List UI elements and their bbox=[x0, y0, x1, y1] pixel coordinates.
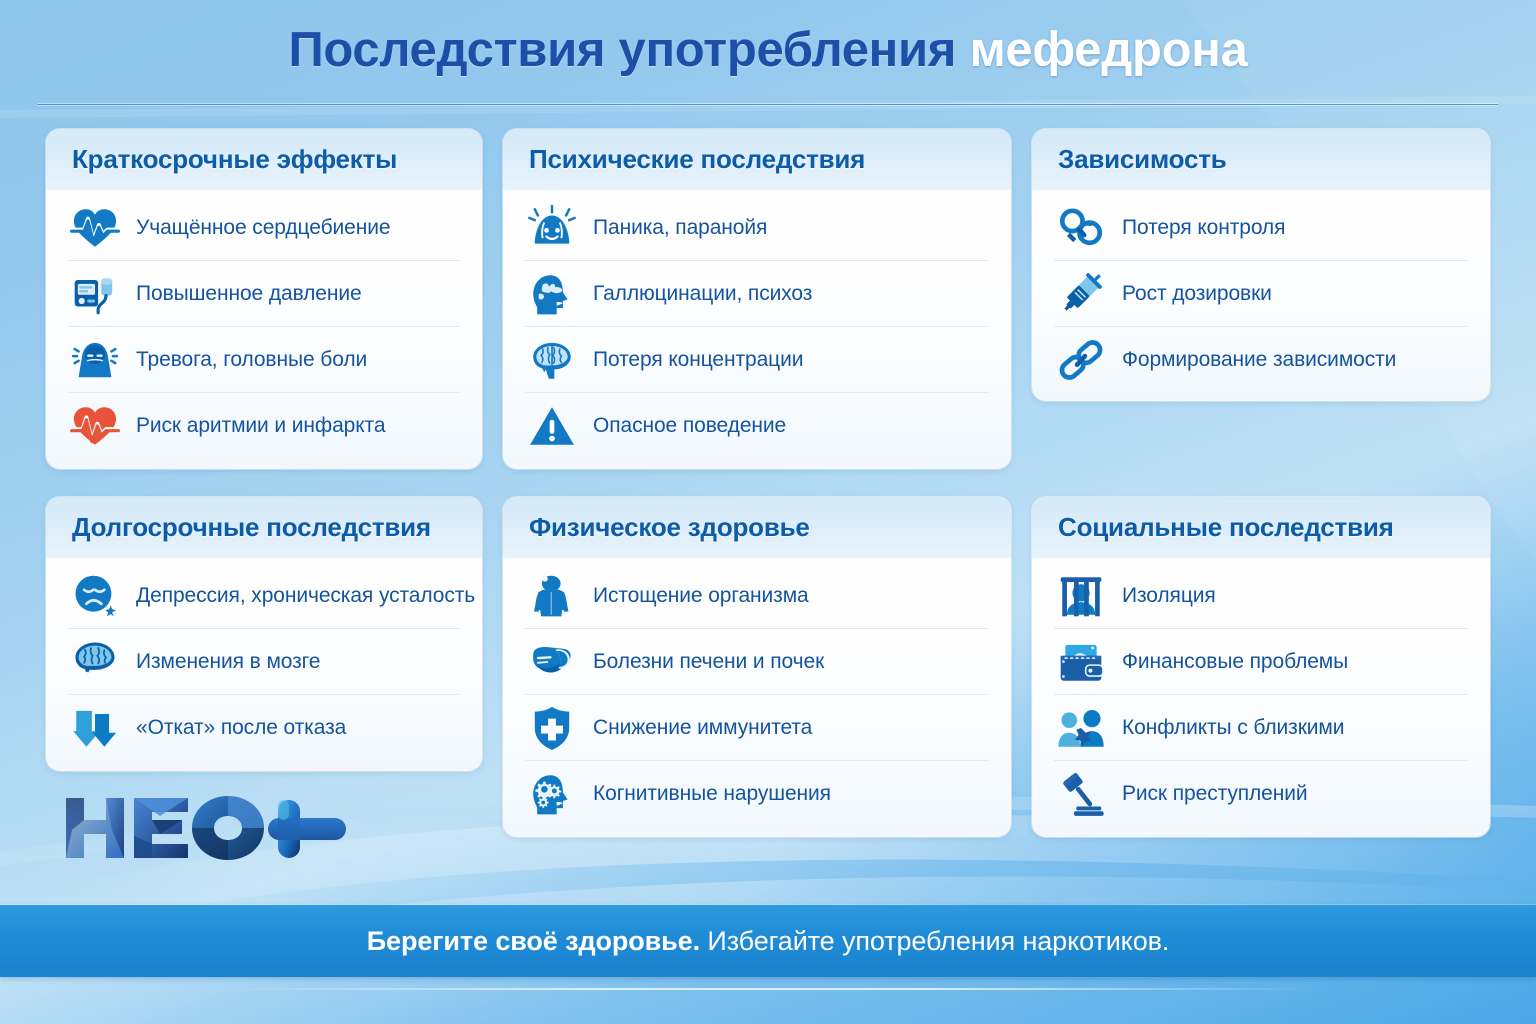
list-item-label: Тревога, головные боли bbox=[136, 348, 367, 372]
list-item[interactable]: Изменения в мозге bbox=[68, 629, 460, 695]
list-item-label: «Откат» после отказа bbox=[136, 716, 346, 740]
gears-head-icon bbox=[525, 767, 579, 821]
title-main-text: Последствия употребления bbox=[288, 23, 956, 77]
list-item-label: Учащённое сердцебиение bbox=[136, 216, 390, 240]
card-header: Психические последствия bbox=[503, 129, 1011, 191]
list-item[interactable]: Рост дозировки bbox=[1054, 261, 1468, 327]
sad-face-icon bbox=[68, 569, 122, 623]
list-item[interactable]: Болезни печени и почек bbox=[525, 629, 989, 695]
gavel-icon bbox=[1054, 767, 1108, 821]
footer-banner: Берегите своё здоровье. Избегайте употре… bbox=[0, 905, 1536, 977]
heartbeat-icon bbox=[68, 201, 122, 255]
prison-bars-icon bbox=[1054, 569, 1108, 623]
list-item-label: Опасное поведение bbox=[593, 414, 786, 438]
card-title: Социальные последствия bbox=[1058, 512, 1394, 543]
title-divider bbox=[38, 103, 1498, 106]
list-item-label: Повышенное давление bbox=[136, 282, 362, 306]
brain-change-icon bbox=[68, 635, 122, 689]
brain-icon bbox=[525, 333, 579, 387]
list-item[interactable]: Снижение иммунитета bbox=[525, 695, 989, 761]
list-item-label: Снижение иммунитета bbox=[593, 716, 812, 740]
infographic-poster: Последствия употребления мефедрона Кратк… bbox=[0, 0, 1536, 1024]
list-item[interactable]: Когнитивные нарушения bbox=[525, 761, 989, 827]
liver-kidney-icon bbox=[525, 635, 579, 689]
heart-arrhythmia-icon bbox=[68, 399, 122, 453]
card-body: Истощение организма Болезни печени и поч… bbox=[503, 559, 1011, 835]
anxious-head-icon bbox=[68, 333, 122, 387]
list-item-label: Риск аритмии и инфаркта bbox=[136, 414, 385, 438]
footer-strong-text: Берегите своё здоровье. bbox=[367, 926, 700, 956]
page-title: Последствия употребления мефедрона bbox=[0, 22, 1536, 78]
list-item-label: Потеря концентрации bbox=[593, 348, 803, 372]
list-item[interactable]: Тревога, головные боли bbox=[68, 327, 460, 393]
card-title: Психические последствия bbox=[529, 144, 865, 175]
card-title: Зависимость bbox=[1058, 144, 1227, 175]
footer-message: Берегите своё здоровье. Избегайте употре… bbox=[367, 926, 1170, 957]
card-dependence: Зависимость Потеря контроля Рост дозиров… bbox=[1032, 129, 1490, 401]
list-item[interactable]: Потеря концентрации bbox=[525, 327, 989, 393]
hallucination-head-icon bbox=[525, 267, 579, 321]
list-item[interactable]: Депрессия, хроническая усталость bbox=[68, 563, 460, 629]
card-long-term-consequences: Долгосрочные последствия Депрессия, хрон… bbox=[46, 497, 482, 771]
card-title: Долгосрочные последствия bbox=[72, 512, 431, 543]
list-item-label: Изменения в мозге bbox=[136, 650, 320, 674]
card-body: Депрессия, хроническая усталость Изменен… bbox=[46, 559, 482, 769]
card-header: Зависимость bbox=[1032, 129, 1490, 191]
list-item[interactable]: Риск преступлений bbox=[1054, 761, 1468, 827]
list-item[interactable]: Галлюцинации, психоз bbox=[525, 261, 989, 327]
list-item[interactable]: Финансовые проблемы bbox=[1054, 629, 1468, 695]
list-item[interactable]: Опасное поведение bbox=[525, 393, 989, 459]
logo-neo-plus-icon bbox=[62, 790, 352, 866]
list-item-label: Паника, паранойя bbox=[593, 216, 767, 240]
title-line: Последствия употребления мефедрона bbox=[0, 22, 1536, 78]
footer-divider bbox=[230, 988, 1310, 990]
wallet-icon bbox=[1054, 635, 1108, 689]
shield-cross-icon bbox=[525, 701, 579, 755]
exhausted-person-icon bbox=[525, 569, 579, 623]
list-item[interactable]: Паника, паранойя bbox=[525, 195, 989, 261]
card-header: Краткосрочные эффекты bbox=[46, 129, 482, 191]
list-item[interactable]: Потеря контроля bbox=[1054, 195, 1468, 261]
list-item-label: Риск преступлений bbox=[1122, 782, 1308, 806]
card-body: Изоляция Финансовые проблемы Конфликты с… bbox=[1032, 559, 1490, 835]
list-item[interactable]: Риск аритмии и инфаркта bbox=[68, 393, 460, 459]
title-accent-text: мефедрона bbox=[969, 23, 1247, 77]
list-item-label: Формирование зависимости bbox=[1122, 348, 1396, 372]
list-item-label: Истощение организма bbox=[593, 584, 809, 608]
list-item-label: Потеря контроля bbox=[1122, 216, 1285, 240]
list-item[interactable]: Истощение организма bbox=[525, 563, 989, 629]
syringe-icon bbox=[1054, 267, 1108, 321]
list-item-label: Галлюцинации, психоз bbox=[593, 282, 812, 306]
list-item[interactable]: «Откат» после отказа bbox=[68, 695, 460, 761]
card-body: Паника, паранойя Галлюцинации, психоз По… bbox=[503, 191, 1011, 467]
brand-logo bbox=[62, 790, 352, 866]
list-item[interactable]: Повышенное давление bbox=[68, 261, 460, 327]
chain-link-icon bbox=[1054, 333, 1108, 387]
card-body: Учащённое сердцебиение Повышенное давлен… bbox=[46, 191, 482, 467]
list-item[interactable]: Изоляция bbox=[1054, 563, 1468, 629]
footer-normal-text: Избегайте употребления наркотиков. bbox=[700, 926, 1169, 956]
list-item[interactable]: Конфликты с близкими bbox=[1054, 695, 1468, 761]
list-item-label: Изоляция bbox=[1122, 584, 1216, 608]
card-social-consequences: Социальные последствия Изоляция Финансов… bbox=[1032, 497, 1490, 837]
card-header: Долгосрочные последствия bbox=[46, 497, 482, 559]
down-arrows-icon bbox=[68, 701, 122, 755]
list-item-label: Рост дозировки bbox=[1122, 282, 1272, 306]
card-mental-consequences: Психические последствия Паника, паранойя… bbox=[503, 129, 1011, 469]
list-item[interactable]: Формирование зависимости bbox=[1054, 327, 1468, 393]
card-title: Физическое здоровье bbox=[529, 512, 810, 543]
list-item-label: Конфликты с близкими bbox=[1122, 716, 1344, 740]
card-short-term-effects: Краткосрочные эффекты Учащённое сердцеби… bbox=[46, 129, 482, 469]
list-item-label: Болезни печени и почек bbox=[593, 650, 824, 674]
warning-triangle-icon bbox=[525, 399, 579, 453]
panic-face-icon bbox=[525, 201, 579, 255]
conflict-people-icon bbox=[1054, 701, 1108, 755]
list-item[interactable]: Учащённое сердцебиение bbox=[68, 195, 460, 261]
card-physical-health: Физическое здоровье Истощение организма … bbox=[503, 497, 1011, 837]
blood-pressure-monitor-icon bbox=[68, 267, 122, 321]
list-item-label: Депрессия, хроническая усталость bbox=[136, 584, 475, 608]
handcuffs-icon bbox=[1054, 201, 1108, 255]
card-header: Физическое здоровье bbox=[503, 497, 1011, 559]
card-title: Краткосрочные эффекты bbox=[72, 144, 397, 175]
list-item-label: Финансовые проблемы bbox=[1122, 650, 1348, 674]
card-body: Потеря контроля Рост дозировки Формирова… bbox=[1032, 191, 1490, 401]
card-header: Социальные последствия bbox=[1032, 497, 1490, 559]
list-item-label: Когнитивные нарушения bbox=[593, 782, 831, 806]
